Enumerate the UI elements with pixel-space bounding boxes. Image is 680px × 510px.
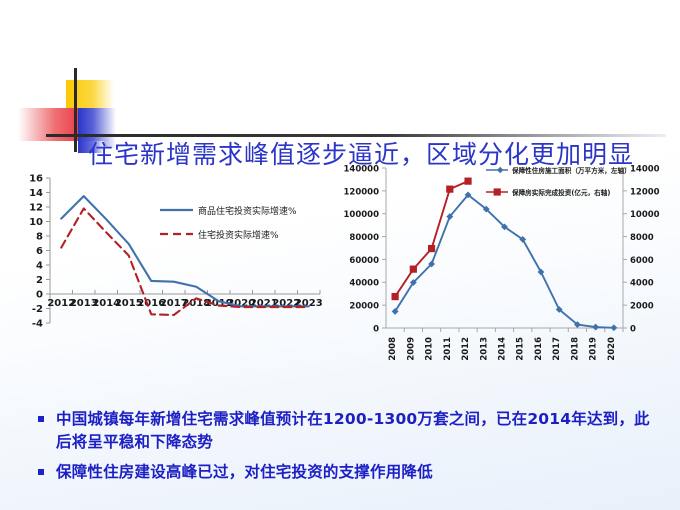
x-tick-label: 2016	[534, 337, 544, 361]
right-chart-svg: 0200004000060000800001000001200001400000…	[328, 150, 676, 390]
series-line-1	[395, 181, 468, 296]
y-tick-label-left: 120000	[344, 187, 380, 197]
y-tick-label: 6	[36, 246, 43, 257]
y-tick-label-right: 4000	[630, 279, 654, 289]
square-marker-icon	[410, 266, 417, 273]
y-tick-label-left: 140000	[344, 164, 380, 174]
x-tick-label: 2010	[425, 337, 435, 361]
title-underline	[46, 134, 666, 137]
bullet-square-icon	[38, 469, 44, 475]
y-tick-label: 2	[36, 275, 43, 286]
y-tick-label-right: 0	[630, 324, 636, 334]
x-tick-label: 2015	[516, 337, 526, 361]
x-tick-label: 2012	[461, 337, 471, 361]
square-marker-icon	[494, 188, 501, 195]
y-tick-label-right: 8000	[630, 233, 654, 243]
y-tick-label: 10	[29, 217, 43, 228]
left-chart-svg: -4-2024681012141620122013201420152016201…	[8, 168, 326, 373]
square-marker-icon	[428, 245, 435, 252]
y-tick-label: 4	[36, 261, 43, 272]
bullet-list: 中国城镇每年新增住宅需求峰值预计在1200-1300万套之间，已在2014年达到…	[38, 408, 658, 491]
x-tick-label: 2018	[570, 337, 580, 361]
x-tick-label: 2019	[589, 337, 599, 361]
vertical-rule-icon	[74, 68, 77, 152]
list-item: 保障性住房建设高峰已过，对住宅投资的支撑作用降低	[38, 461, 658, 484]
y-tick-label-right: 12000	[630, 187, 660, 197]
y-tick-label-left: 0	[373, 324, 379, 334]
y-tick-label: 8	[36, 232, 43, 243]
y-tick-label-left: 100000	[344, 210, 380, 220]
x-tick-label: 2009	[406, 337, 416, 361]
y-tick-label: -2	[32, 304, 43, 315]
square-marker-icon	[392, 293, 399, 300]
x-tick-label: 2014	[498, 337, 508, 361]
y-tick-label-left: 40000	[349, 279, 379, 289]
x-tick-label: 2013	[479, 337, 489, 361]
diamond-marker-icon	[592, 324, 599, 331]
legend-label-r1: 保障房实际完成投资(亿元，右轴)	[511, 188, 610, 197]
slide-header: 住宅新增需求峰值逐步逼近，区域分化更加明显	[0, 62, 680, 150]
bullet-text-0: 中国城镇每年新增住宅需求峰值预计在1200-1300万套之间，已在2014年达到…	[56, 408, 658, 454]
series-line-0	[395, 195, 614, 328]
y-tick-label-left: 60000	[349, 256, 379, 266]
y-tick-label-right: 2000	[630, 302, 654, 312]
y-tick-label: 14	[29, 188, 43, 199]
diamond-marker-icon	[610, 324, 617, 331]
y-tick-label: 0	[36, 290, 43, 301]
square-marker-icon	[464, 178, 471, 185]
y-tick-label: 16	[29, 174, 43, 185]
legend-label-0: 商品住宅投资实际增速%	[198, 205, 297, 217]
slide-root: 住宅新增需求峰值逐步逼近，区域分化更加明显 -4-202468101214162…	[0, 0, 680, 510]
square-marker-icon	[446, 186, 453, 193]
legend-label-1: 住宅投资实际增速%	[198, 229, 279, 241]
chart-affordable-housing: 0200004000060000800001000001200001400000…	[328, 150, 676, 390]
diamond-marker-icon	[497, 167, 503, 173]
x-tick-label: 2020	[607, 337, 617, 361]
y-tick-label-right: 14000	[630, 164, 660, 174]
legend-label-r0: 保障性住房施工面积（万平方米，左轴）	[511, 166, 631, 175]
bullet-square-icon	[38, 416, 44, 422]
x-tick-label: 2008	[388, 337, 398, 361]
bullet-text-1: 保障性住房建设高峰已过，对住宅投资的支撑作用降低	[56, 461, 433, 484]
y-tick-label-left: 20000	[349, 302, 379, 312]
y-tick-label-left: 80000	[349, 233, 379, 243]
chart-residential-investment-growth: -4-2024681012141620122013201420152016201…	[8, 168, 326, 373]
y-tick-label: -4	[32, 319, 43, 330]
y-tick-label-right: 6000	[630, 256, 654, 266]
y-tick-label-right: 10000	[630, 210, 660, 220]
x-tick-label: 2017	[552, 337, 562, 361]
y-tick-label: 12	[29, 203, 43, 214]
list-item: 中国城镇每年新增住宅需求峰值预计在1200-1300万套之间，已在2014年达到…	[38, 408, 658, 454]
x-tick-label: 2011	[443, 337, 453, 361]
